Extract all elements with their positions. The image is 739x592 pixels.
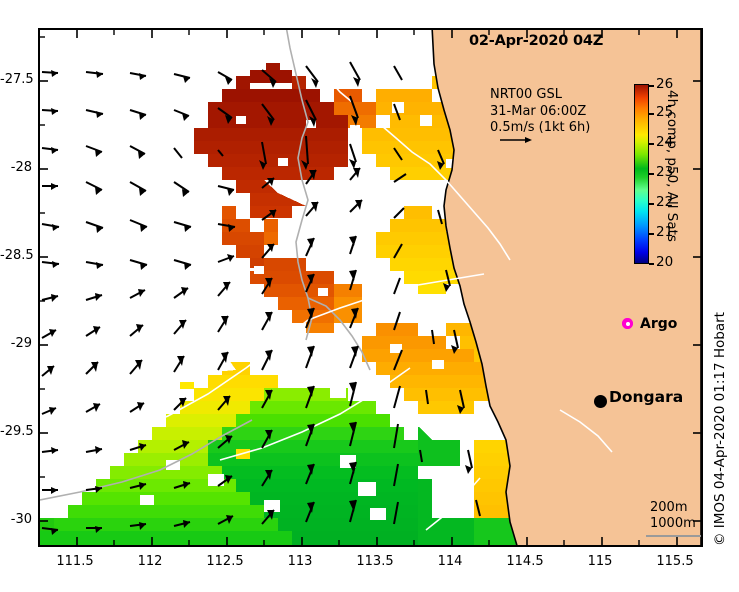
depth-legend-200m: 200m bbox=[650, 500, 696, 516]
sst-map-figure: 02-Apr-2020 04Z NRT00 GSL 31-Mar 06:00Z … bbox=[0, 0, 739, 592]
xtick-label-8: 115.5 bbox=[645, 554, 705, 569]
ytick-label-0: -27.5 bbox=[0, 72, 32, 87]
depth-contour-legend: 200m 1000m bbox=[650, 500, 696, 532]
colorbar-tick-20 bbox=[649, 263, 654, 265]
xtick-label-4: 113.5 bbox=[345, 554, 405, 569]
map-canvas bbox=[40, 30, 701, 545]
ytick-label-2: -28.5 bbox=[0, 248, 32, 263]
xtick-label-3: 113 bbox=[270, 554, 330, 569]
colorbar-label-20: 20 bbox=[656, 254, 673, 270]
xtick-label-5: 114 bbox=[420, 554, 480, 569]
product-name: NRT00 GSL bbox=[490, 87, 590, 104]
argo-float-marker[interactable] bbox=[622, 318, 633, 329]
dongara-label: Dongara bbox=[609, 388, 683, 406]
xtick-label-6: 114.5 bbox=[495, 554, 555, 569]
colorbar-title: 4h comp, p50, All Sats bbox=[664, 90, 680, 242]
vector-key-arrow-icon bbox=[499, 135, 533, 145]
ytick-label-1: -28 bbox=[0, 160, 32, 175]
ytick-label-4: -29.5 bbox=[0, 424, 32, 439]
colorbar-gradient bbox=[634, 84, 649, 264]
argo-label: Argo bbox=[640, 316, 677, 332]
depth-legend-rule bbox=[646, 535, 703, 537]
colorbar-tick-22 bbox=[649, 203, 654, 205]
imos-credit: © IMOS 04-Apr-2020 01:17 Hobart bbox=[712, 312, 728, 546]
xtick-label-1: 112 bbox=[120, 554, 180, 569]
ytick-label-3: -29 bbox=[0, 336, 32, 351]
colorbar-tick-23 bbox=[649, 173, 654, 175]
dongara-town-marker[interactable] bbox=[594, 395, 607, 408]
xtick-label-2: 112.5 bbox=[195, 554, 255, 569]
product-time: 31-Mar 06:00Z bbox=[490, 104, 590, 121]
sst-raster-layer bbox=[40, 30, 701, 545]
xtick-label-0: 111.5 bbox=[45, 554, 105, 569]
ytick-label-5: -30 bbox=[0, 512, 32, 527]
depth-legend-1000m: 1000m bbox=[650, 516, 696, 532]
map-plot-frame: 02-Apr-2020 04Z NRT00 GSL 31-Mar 06:00Z … bbox=[38, 28, 703, 547]
colorbar-tick-24 bbox=[649, 143, 654, 145]
colorbar-tick-21 bbox=[649, 233, 654, 235]
colorbar: 20 21 22 23 24 25 26 4h comp, p50, All S… bbox=[634, 84, 704, 268]
product-info-block: NRT00 GSL 31-Mar 06:00Z 0.5m/s (1kt 6h) bbox=[490, 87, 590, 137]
colorbar-tick-26 bbox=[649, 85, 654, 87]
date-overlay-label: 02-Apr-2020 04Z bbox=[469, 33, 603, 49]
xtick-label-7: 115 bbox=[570, 554, 630, 569]
colorbar-tick-25 bbox=[649, 113, 654, 115]
